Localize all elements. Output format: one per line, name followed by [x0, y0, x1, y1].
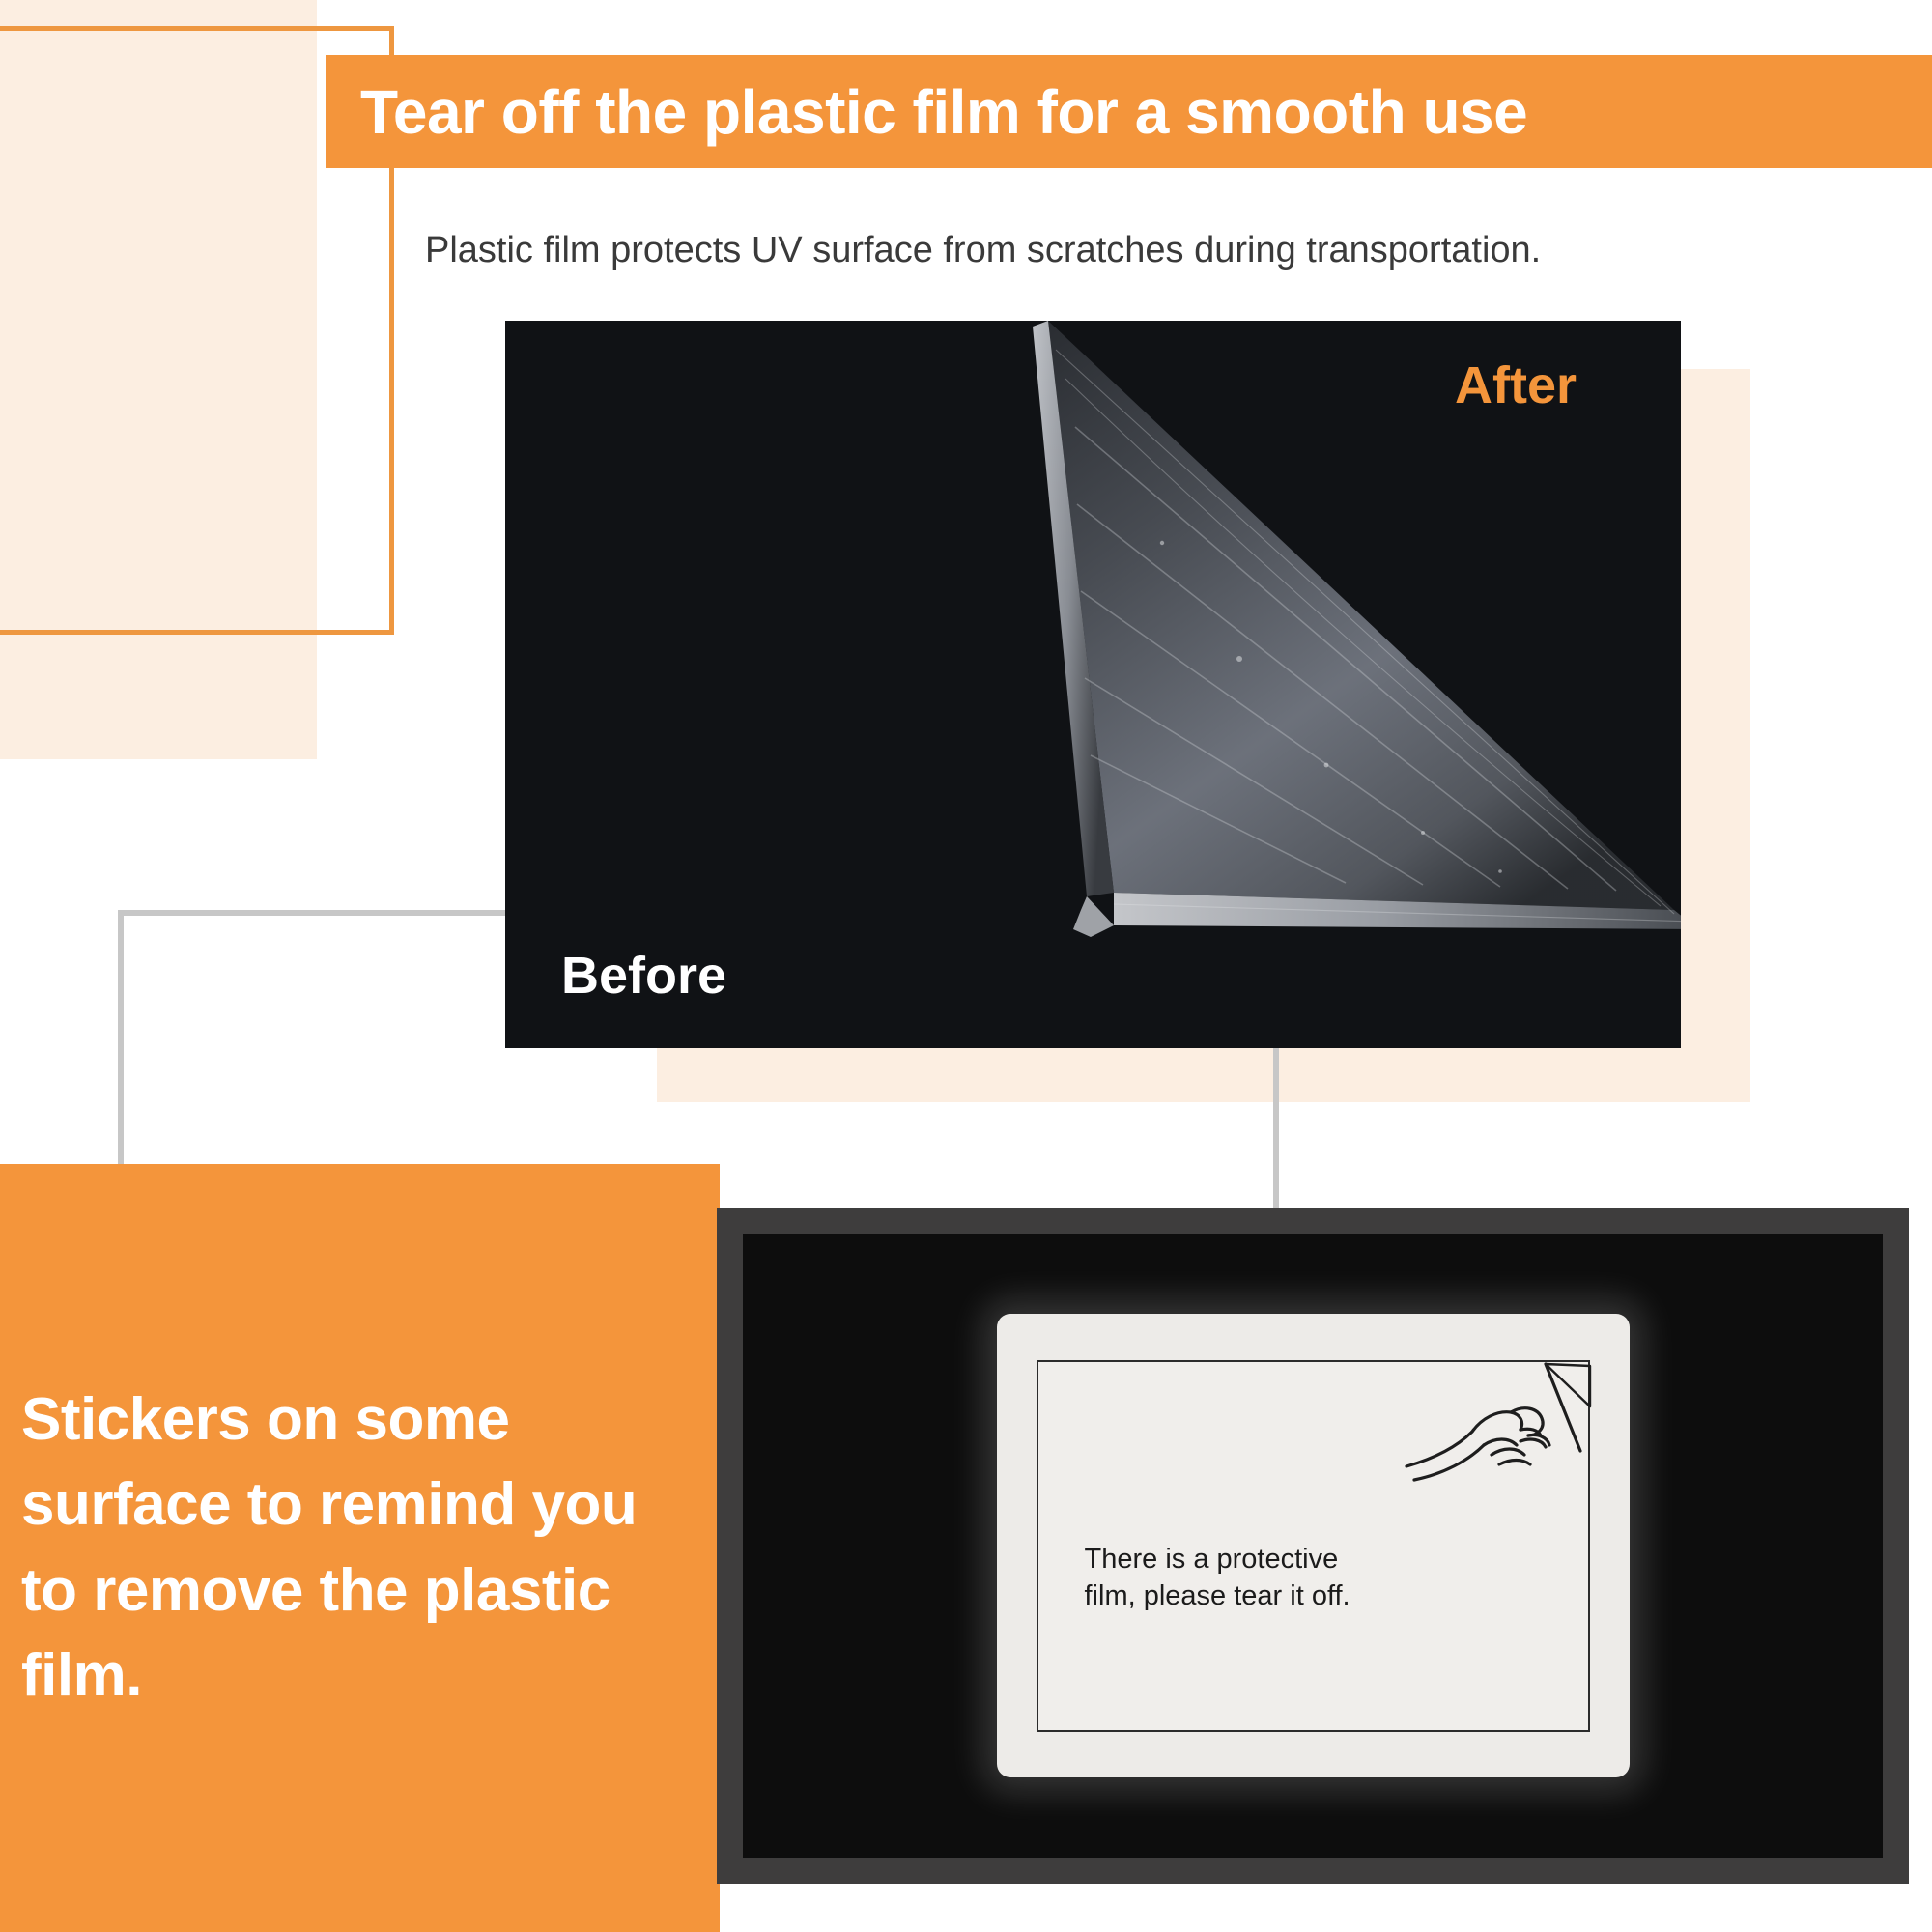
hand-peeling-film-icon	[1401, 1358, 1594, 1513]
connector-line-vertical-center	[1273, 1048, 1279, 1210]
label-after: After	[1455, 355, 1577, 415]
sticker-message: There is a protective film, please tear …	[1085, 1541, 1539, 1615]
connector-line-horizontal	[118, 910, 509, 916]
callout-panel: Stickers on some surface to remind you t…	[0, 1164, 720, 1932]
callout-panel-text: Stickers on some surface to remind you t…	[21, 1378, 696, 1718]
photo-sticker-inner: There is a protective film, please tear …	[743, 1234, 1883, 1858]
infographic-canvas: Tear off the plastic film for a smooth u…	[0, 0, 1932, 1932]
warning-sticker: There is a protective film, please tear …	[997, 1314, 1630, 1777]
sticker-message-line2: film, please tear it off.	[1085, 1577, 1539, 1614]
page-title: Tear off the plastic film for a smooth u…	[326, 76, 1527, 148]
subtitle-text: Plastic film protects UV surface from sc…	[425, 230, 1541, 271]
warning-sticker-border: There is a protective film, please tear …	[1037, 1360, 1590, 1732]
header-banner: Tear off the plastic film for a smooth u…	[326, 55, 1932, 168]
connector-line-vertical-left	[118, 910, 124, 1167]
label-before: Before	[561, 946, 726, 1006]
photo-plastic-film-peel: After Before	[505, 321, 1681, 1048]
sticker-message-line1: There is a protective	[1085, 1541, 1539, 1577]
decor-peach-block-under-photo	[657, 1048, 1750, 1102]
photo-sticker-on-surface: There is a protective film, please tear …	[717, 1207, 1909, 1884]
plastic-film-illustration	[824, 321, 1681, 1048]
